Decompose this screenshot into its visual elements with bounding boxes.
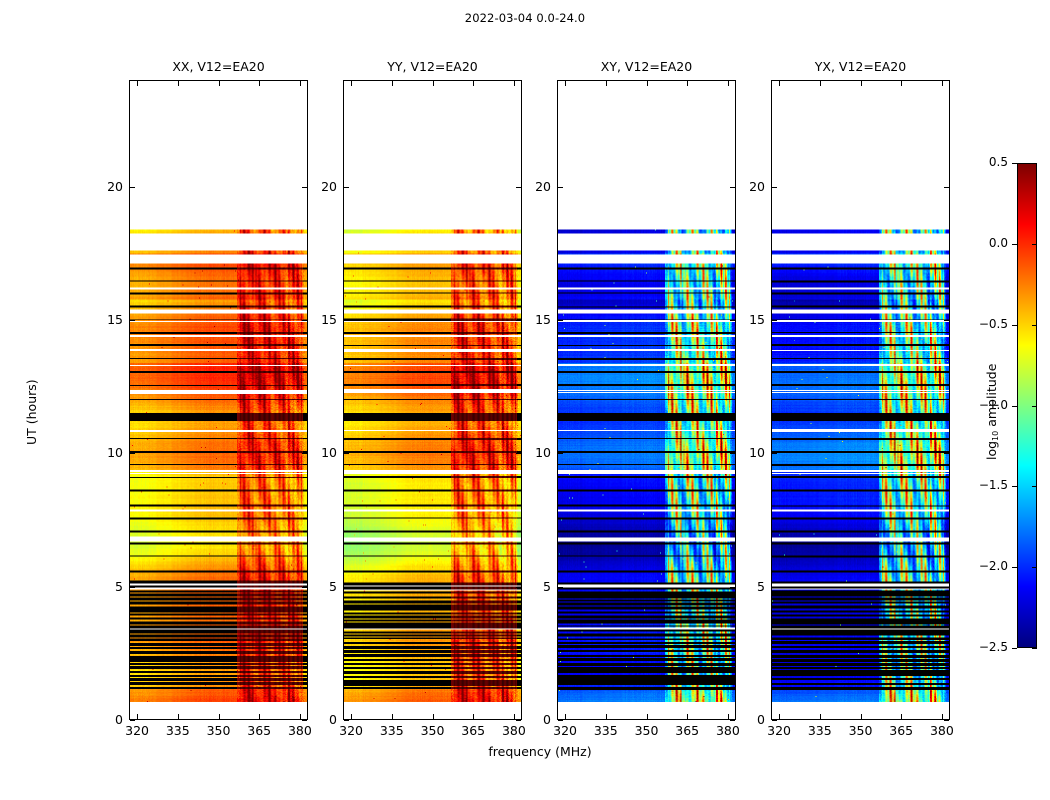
x-tick-label-0-1: 335	[158, 723, 198, 738]
x-tick-label-3-0: 320	[759, 723, 799, 738]
x-tick-label-2-1: 335	[586, 723, 626, 738]
colorbar-tick-5	[1012, 244, 1017, 245]
x-tick-3-0	[779, 714, 780, 719]
y-tick-3-4	[772, 187, 777, 188]
y-tick-right-3-2	[944, 453, 949, 454]
x-axis-label: frequency (MHz)	[330, 744, 750, 759]
heatmap-image-yy	[344, 81, 521, 719]
y-tick-label-0-4: 20	[89, 179, 123, 194]
x-tick-top-3-3	[901, 81, 902, 86]
y-tick-right-3-1	[944, 587, 949, 588]
colorbar-tick-4	[1012, 325, 1017, 326]
colorbar-tick-2	[1012, 486, 1017, 487]
panel-title-yx: YX, V12=EA20	[771, 59, 950, 77]
x-tick-top-3-2	[861, 81, 862, 86]
y-tick-2-4	[558, 187, 563, 188]
x-tick-3-4	[942, 714, 943, 719]
colorbar-tick-label-2: −1.5	[968, 478, 1008, 492]
x-tick-top-1-4	[514, 81, 515, 86]
x-tick-2-2	[647, 714, 648, 719]
y-tick-3-1	[772, 587, 777, 588]
x-tick-top-1-1	[392, 81, 393, 86]
heatmap-image-yx	[772, 81, 949, 719]
y-tick-label-1-4: 20	[303, 179, 337, 194]
x-tick-label-1-2: 350	[413, 723, 453, 738]
x-tick-label-0-2: 350	[199, 723, 239, 738]
colorbar-label-tail: amplitude	[984, 364, 999, 431]
x-tick-top-3-0	[779, 81, 780, 86]
x-tick-1-2	[433, 714, 434, 719]
heatmap-panel-yx[interactable]	[771, 80, 950, 720]
y-tick-label-1-3: 15	[303, 312, 337, 327]
y-tick-label-2-2: 10	[517, 445, 551, 460]
y-tick-label-2-4: 20	[517, 179, 551, 194]
x-tick-2-0	[565, 714, 566, 719]
colorbar-tick-right-4	[1032, 325, 1037, 326]
x-tick-top-3-1	[820, 81, 821, 86]
y-tick-label-3-0: 0	[731, 712, 765, 727]
heatmap-panel-xx[interactable]	[129, 80, 308, 720]
x-tick-0-2	[219, 714, 220, 719]
x-tick-top-0-4	[300, 81, 301, 86]
colorbar-tick-label-6: 0.5	[968, 155, 1008, 169]
x-tick-top-0-3	[259, 81, 260, 86]
y-tick-label-3-2: 10	[731, 445, 765, 460]
x-tick-2-4	[728, 714, 729, 719]
x-tick-label-1-3: 365	[453, 723, 493, 738]
x-tick-label-3-2: 350	[841, 723, 881, 738]
colorbar-label-subscript: 10	[991, 431, 1000, 441]
y-tick-3-2	[772, 453, 777, 454]
x-tick-label-2-3: 365	[667, 723, 707, 738]
x-tick-label-3-1: 335	[800, 723, 840, 738]
x-tick-label-3-4: 380	[922, 723, 962, 738]
heatmap-panel-xy[interactable]	[557, 80, 736, 720]
x-tick-top-2-2	[647, 81, 648, 86]
colorbar-tick-6	[1012, 163, 1017, 164]
x-tick-label-0-0: 320	[117, 723, 157, 738]
x-tick-top-1-3	[473, 81, 474, 86]
x-tick-top-0-2	[219, 81, 220, 86]
y-tick-label-3-3: 15	[731, 312, 765, 327]
x-tick-label-1-1: 335	[372, 723, 412, 738]
colorbar-label: log10 amplitude	[984, 364, 1000, 460]
x-tick-label-0-3: 365	[239, 723, 279, 738]
panel-title-yy: YY, V12=EA20	[343, 59, 522, 77]
y-tick-label-3-4: 20	[731, 179, 765, 194]
y-tick-0-0	[130, 720, 135, 721]
colorbar-tick-right-5	[1032, 244, 1037, 245]
x-tick-label-2-0: 320	[545, 723, 585, 738]
x-tick-1-1	[392, 714, 393, 719]
colorbar-tick-3	[1012, 406, 1017, 407]
colorbar-tick-right-3	[1032, 406, 1037, 407]
y-tick-1-2	[344, 453, 349, 454]
y-tick-1-3	[344, 320, 349, 321]
colorbar-label-base: log	[984, 441, 999, 460]
heatmap-image-xy	[558, 81, 735, 719]
colorbar-tick-right-2	[1032, 486, 1037, 487]
heatmap-panel-yy[interactable]	[343, 80, 522, 720]
y-tick-2-0	[558, 720, 563, 721]
y-tick-label-0-0: 0	[89, 712, 123, 727]
x-tick-2-1	[606, 714, 607, 719]
y-tick-label-3-1: 5	[731, 579, 765, 594]
y-tick-1-0	[344, 720, 349, 721]
x-tick-top-2-1	[606, 81, 607, 86]
y-tick-2-1	[558, 587, 563, 588]
figure-suptitle: 2022-03-04 0.0-24.0	[0, 11, 1050, 25]
y-tick-label-2-0: 0	[517, 712, 551, 727]
colorbar-tick-0	[1012, 648, 1017, 649]
y-tick-0-1	[130, 587, 135, 588]
colorbar-tick-label-0: −2.5	[968, 640, 1008, 654]
x-tick-3-1	[820, 714, 821, 719]
colorbar-tick-right-0	[1032, 648, 1037, 649]
x-tick-1-0	[351, 714, 352, 719]
x-tick-top-2-0	[565, 81, 566, 86]
y-tick-label-2-1: 5	[517, 579, 551, 594]
y-tick-0-4	[130, 187, 135, 188]
x-tick-0-0	[137, 714, 138, 719]
colorbar-tick-1	[1012, 567, 1017, 568]
y-tick-right-3-3	[944, 320, 949, 321]
colorbar-tick-label-1: −2.0	[968, 559, 1008, 573]
x-tick-top-3-4	[942, 81, 943, 86]
x-tick-1-4	[514, 714, 515, 719]
y-tick-0-2	[130, 453, 135, 454]
y-tick-label-2-3: 15	[517, 312, 551, 327]
y-tick-2-3	[558, 320, 563, 321]
y-tick-1-4	[344, 187, 349, 188]
x-tick-1-3	[473, 714, 474, 719]
x-tick-0-1	[178, 714, 179, 719]
y-tick-3-3	[772, 320, 777, 321]
y-tick-label-0-1: 5	[89, 579, 123, 594]
y-tick-right-3-0	[944, 720, 949, 721]
x-tick-label-1-0: 320	[331, 723, 371, 738]
y-tick-0-3	[130, 320, 135, 321]
y-tick-label-0-2: 10	[89, 445, 123, 460]
panel-title-xy: XY, V12=EA20	[557, 59, 736, 77]
figure-canvas: 2022-03-04 0.0-24.0 XX, V12=EA20 YY, V12…	[0, 0, 1050, 800]
panel-title-xx: XX, V12=EA20	[129, 59, 308, 77]
heatmap-image-xx	[130, 81, 307, 719]
x-tick-3-3	[901, 714, 902, 719]
y-axis-label: UT (hours)	[24, 379, 39, 445]
x-tick-top-1-2	[433, 81, 434, 86]
x-tick-2-3	[687, 714, 688, 719]
x-tick-top-2-4	[728, 81, 729, 86]
y-tick-1-1	[344, 587, 349, 588]
x-tick-top-0-0	[137, 81, 138, 86]
colorbar-tick-label-4: −0.5	[968, 317, 1008, 331]
x-tick-label-2-2: 350	[627, 723, 667, 738]
y-tick-right-3-4	[944, 187, 949, 188]
x-tick-0-3	[259, 714, 260, 719]
y-tick-label-0-3: 15	[89, 312, 123, 327]
y-tick-label-1-0: 0	[303, 712, 337, 727]
y-tick-label-1-2: 10	[303, 445, 337, 460]
colorbar-tick-label-5: 0.0	[968, 236, 1008, 250]
x-tick-top-0-1	[178, 81, 179, 86]
x-tick-top-2-3	[687, 81, 688, 86]
x-tick-top-1-0	[351, 81, 352, 86]
colorbar-tick-right-1	[1032, 567, 1037, 568]
x-tick-0-4	[300, 714, 301, 719]
x-tick-label-3-3: 365	[881, 723, 921, 738]
y-tick-3-0	[772, 720, 777, 721]
y-tick-label-1-1: 5	[303, 579, 337, 594]
y-tick-2-2	[558, 453, 563, 454]
colorbar-tick-right-6	[1032, 163, 1037, 164]
x-tick-3-2	[861, 714, 862, 719]
